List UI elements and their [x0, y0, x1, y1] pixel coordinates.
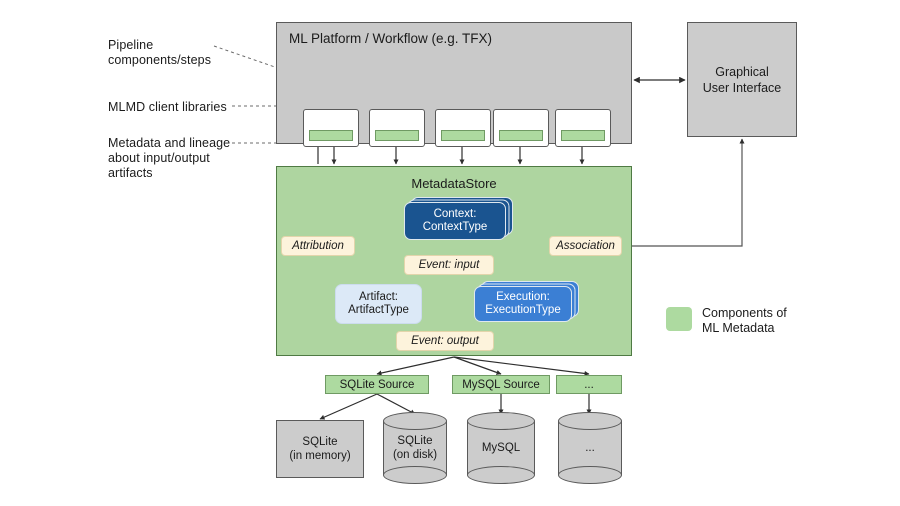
source-other[interactable]: ... — [556, 375, 622, 394]
database-mysql[interactable]: MySQL — [467, 412, 535, 484]
source-mysql-label: MySQL Source — [462, 379, 540, 391]
legend-color-swatch — [666, 307, 692, 331]
event-input-text: Event: input — [419, 259, 480, 271]
artifact-node-label: Artifact: ArtifactType — [348, 291, 409, 318]
mlmd-client-library-bar — [561, 130, 605, 141]
execution-node-label: Execution: ExecutionType — [485, 291, 560, 318]
cylinder-top — [467, 412, 535, 430]
database-sqlite-on-disk[interactable]: SQLite (on disk) — [383, 412, 447, 484]
association-text: Association — [556, 240, 615, 252]
database-sqlite-on-disk-label: SQLite (on disk) — [383, 434, 447, 462]
event-input-label: Event: input — [404, 255, 494, 275]
pipeline-component-4[interactable] — [493, 109, 549, 147]
database-sqlite-in-memory-label: SQLite (in memory) — [289, 435, 350, 463]
annotation-pipeline-components: Pipeline components/steps — [108, 38, 211, 68]
event-output-text: Event: output — [411, 335, 479, 347]
cylinder-bottom — [383, 466, 447, 484]
annotation-mlmd-client-libraries: MLMD client libraries — [108, 100, 227, 115]
mlmd-client-library-bar — [375, 130, 419, 141]
database-sqlite-in-memory[interactable]: SQLite (in memory) — [276, 420, 364, 478]
execution-node[interactable]: Execution: ExecutionType — [474, 286, 572, 322]
database-other[interactable]: ... — [558, 412, 622, 484]
event-output-label: Event: output — [396, 331, 494, 351]
context-node-label: Context: ContextType — [423, 208, 488, 235]
legend-label: Components of ML Metadata — [702, 306, 787, 336]
source-mysql[interactable]: MySQL Source — [452, 375, 550, 394]
mlmd-client-library-bar — [499, 130, 543, 141]
mlmd-client-library-bar — [441, 130, 485, 141]
mlmd-client-library-bar — [309, 130, 353, 141]
annotation-metadata-lineage: Metadata and lineage about input/output … — [108, 136, 230, 181]
attribution-label: Attribution — [281, 236, 355, 256]
ml-platform-title: ML Platform / Workflow (e.g. TFX) — [289, 31, 492, 46]
database-mysql-label: MySQL — [467, 441, 535, 455]
database-other-label: ... — [558, 441, 622, 455]
association-label: Association — [549, 236, 622, 256]
cylinder-top — [383, 412, 447, 430]
artifact-node[interactable]: Artifact: ArtifactType — [335, 284, 422, 324]
pipeline-component-3[interactable] — [435, 109, 491, 147]
ml-platform-container: ML Platform / Workflow (e.g. TFX) — [276, 22, 632, 144]
cylinder-top — [558, 412, 622, 430]
pipeline-component-5[interactable] — [555, 109, 611, 147]
attribution-text: Attribution — [292, 240, 344, 252]
graphical-user-interface-box[interactable]: Graphical User Interface — [687, 22, 797, 137]
cylinder-bottom — [558, 466, 622, 484]
metadata-store-title: MetadataStore — [277, 176, 631, 191]
pipeline-component-2[interactable] — [369, 109, 425, 147]
source-sqlite[interactable]: SQLite Source — [325, 375, 429, 394]
source-other-label: ... — [584, 379, 594, 391]
diagram-canvas: Pipeline components/steps MLMD client li… — [0, 0, 900, 506]
source-sqlite-label: SQLite Source — [340, 379, 415, 391]
pipeline-component-1[interactable] — [303, 109, 359, 147]
gui-label: Graphical User Interface — [703, 64, 782, 96]
cylinder-bottom — [467, 466, 535, 484]
context-node[interactable]: Context: ContextType — [404, 202, 506, 240]
